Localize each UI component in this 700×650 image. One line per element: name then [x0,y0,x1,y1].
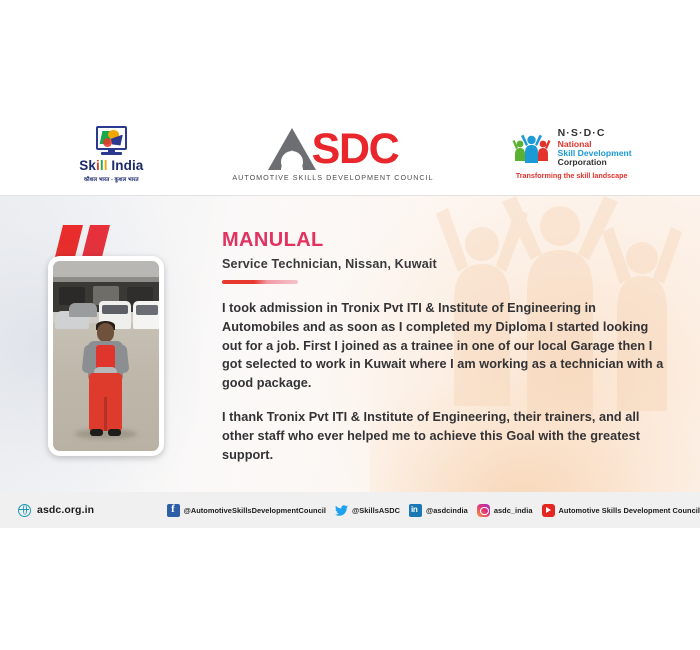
globe-icon [18,504,31,517]
asdc-letters-sdc: SDC [312,130,399,169]
skill-india-tagline: कौशल भारत - कुशल भारत [84,175,139,183]
instagram-icon [477,504,490,517]
social-link-youtube[interactable]: Automotive Skills Development Council [542,504,700,517]
twitter-icon [335,504,348,517]
skill-india-wordmark: Skill India [79,159,143,173]
asdc-mark: SDC [268,126,399,170]
social-links: @AutomotiveSkillsDevelopmentCouncil @Ski… [167,504,700,517]
linkedin-icon [409,504,422,517]
instagram-handle: asdc_india [494,506,533,515]
nsdc-tagline: Transforming the skill landscape [516,171,628,180]
skill-india-word-part2: India [108,158,144,173]
website-link[interactable]: asdc.org.in [18,504,157,517]
logo-header: Skill India कौशल भारत - कुशल भारत SDC AU… [0,113,700,196]
asdc-subtitle: AUTOMOTIVE SKILLS DEVELOPMENT COUNCIL [232,173,433,182]
testimonial-paragraph-2: I thank Tronix Pvt ITI & Institute of En… [222,408,666,464]
linkedin-handle: @asdcindia [426,506,468,515]
social-link-instagram[interactable]: asdc_india [477,504,533,517]
skill-india-logo: Skill India कौशल भारत - कुशल भारत [68,126,154,183]
skill-india-word-part1: Sk [79,158,96,173]
social-link-facebook[interactable]: @AutomotiveSkillsDevelopmentCouncil [167,504,326,517]
nsdc-logo: N·S·D·C National Skill Development Corpo… [512,128,632,179]
accent-divider [222,280,298,284]
testimonial-content: MANULAL Service Technician, Nissan, Kuwa… [222,230,666,464]
facebook-handle: @AutomotiveSkillsDevelopmentCouncil [184,506,326,515]
youtube-handle: Automotive Skills Development Council [559,506,700,515]
person-name: MANULAL [222,230,666,250]
twitter-handle: @SkillsASDC [352,506,400,515]
asdc-letter-a-icon [268,128,317,170]
testimonial-paragraph-1: I took admission in Tronix Pvt ITI & Ins… [222,299,666,393]
monitor-skill-icon [96,126,127,156]
social-link-linkedin[interactable]: @asdcindia [409,504,468,517]
website-url: asdc.org.in [37,504,94,516]
service-technician-photo [48,256,164,456]
asdc-logo: SDC AUTOMOTIVE SKILLS DEVELOPMENT COUNCI… [232,126,433,182]
footer-bar: asdc.org.in @AutomotiveSkillsDevelopment… [0,492,700,528]
testimonial-poster: Skill India कौशल भारत - कुशल भारत SDC AU… [0,0,700,650]
facebook-icon [167,504,180,517]
youtube-icon [542,504,555,517]
three-people-icon [512,131,552,164]
social-link-twitter[interactable]: @SkillsASDC [335,504,400,517]
nsdc-line3: Corporation [558,158,632,167]
testimonial-body: MANULAL Service Technician, Nissan, Kuwa… [0,196,700,492]
person-role: Service Technician, Nissan, Kuwait [222,257,666,271]
